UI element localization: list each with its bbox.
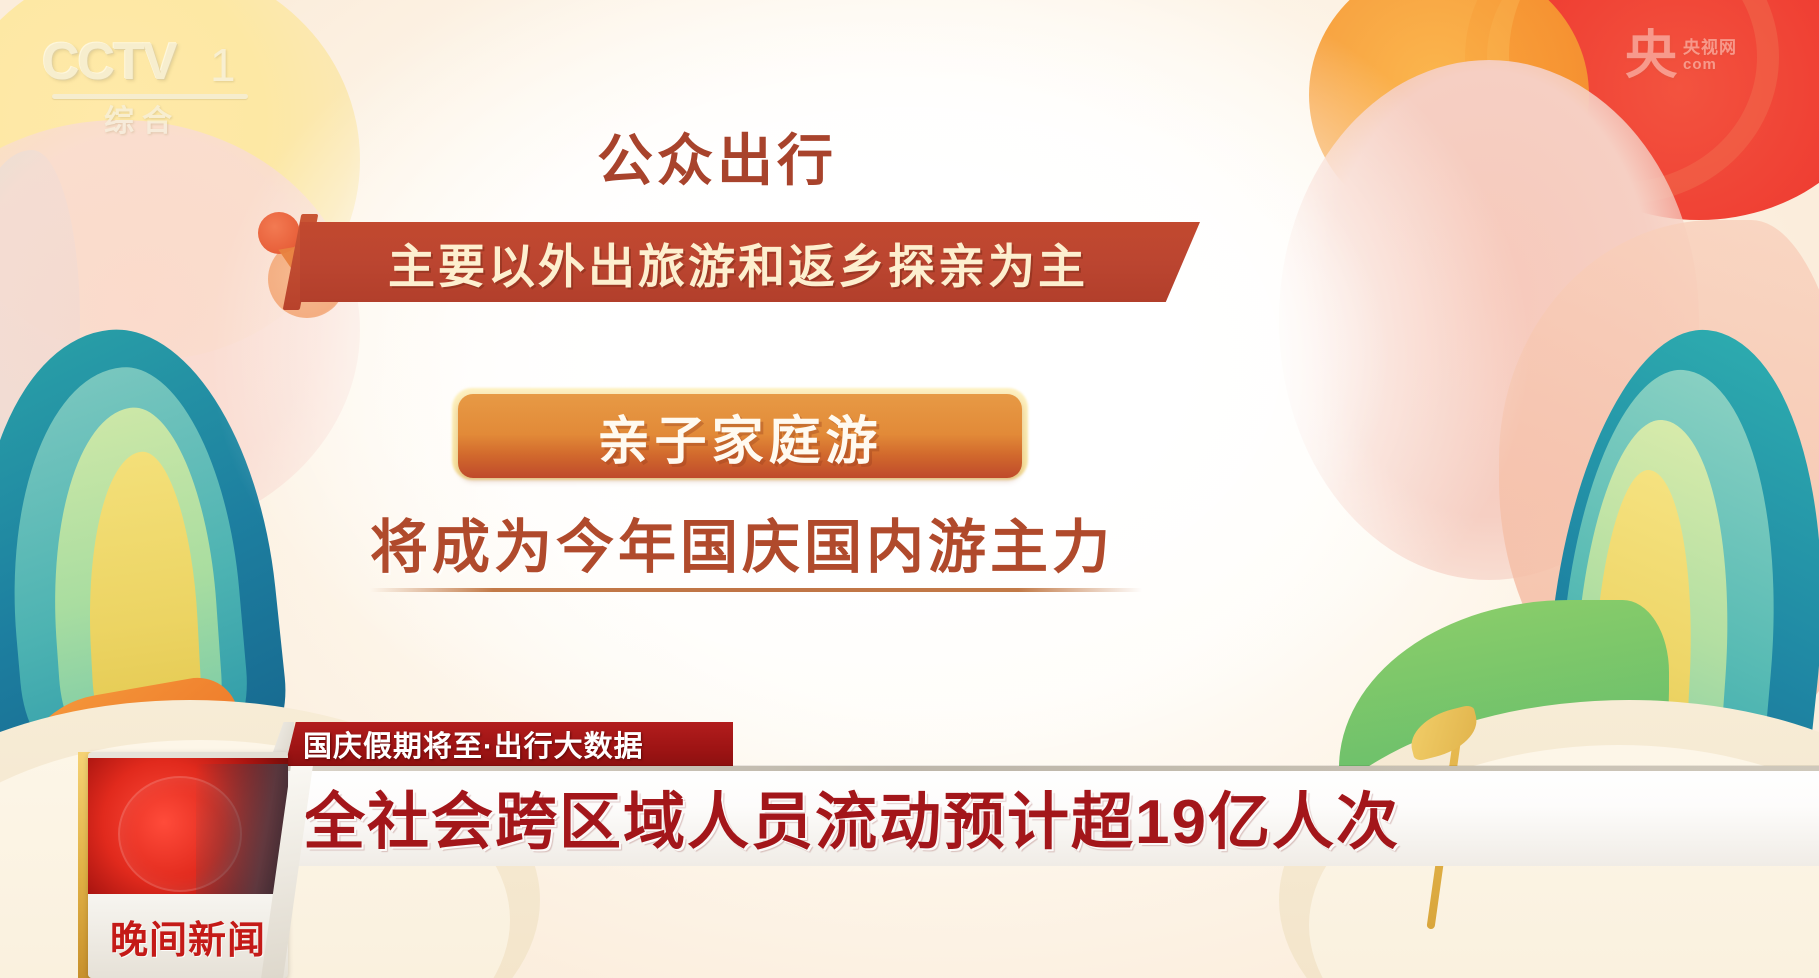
watermark-line-1: 央视网	[1683, 39, 1737, 57]
watermark-logo-icon: 央	[1625, 30, 1677, 82]
globe-icon	[88, 758, 288, 898]
slide-red-banner-text: 主要以外出旅游和返乡探亲为主	[388, 228, 1112, 297]
watermark-text-group: 央视网 com	[1683, 39, 1737, 73]
cctv-channel-logo: CCTV 1 综合	[42, 36, 258, 132]
watermark-line-2: com	[1683, 57, 1737, 73]
program-badge: 晚间新闻	[88, 752, 288, 978]
slide-section-title: 公众出行	[597, 116, 837, 197]
lower-third-topic-bar: 国庆假期将至·出行大数据	[285, 722, 733, 766]
highlight-pill: 亲子家庭游	[458, 394, 1022, 478]
slide-conclusion-underline	[370, 588, 1142, 592]
slide-conclusion-text: 将成为今年国庆国内游主力	[322, 500, 1162, 584]
cctv-channel-number: 1	[210, 38, 236, 92]
background-core-glow	[210, 0, 1530, 760]
highlight-pill-text: 亲子家庭游	[597, 399, 882, 474]
slide-red-banner: 主要以外出旅游和返乡探亲为主	[300, 222, 1200, 302]
lower-third-headline-bar: 全社会跨区域人员流动预计超19亿人次	[285, 766, 1819, 866]
cctv-web-watermark: 央 央视网 com	[1625, 30, 1737, 82]
broadcast-screen: CCTV 1 综合 央 央视网 com 公众出行 主要以外出旅游和返乡探亲为主 …	[0, 0, 1819, 978]
lower-third-headline-accent	[285, 766, 1819, 771]
lower-third-headline-text: 全社会跨区域人员流动预计超19亿人次	[303, 771, 1400, 861]
program-badge-plate: 晚间新闻	[88, 894, 288, 978]
program-badge-text: 晚间新闻	[110, 909, 266, 964]
cctv-sub-label: 综合	[104, 96, 180, 140]
lower-third-topic-text: 国庆假期将至·出行大数据	[303, 723, 644, 765]
